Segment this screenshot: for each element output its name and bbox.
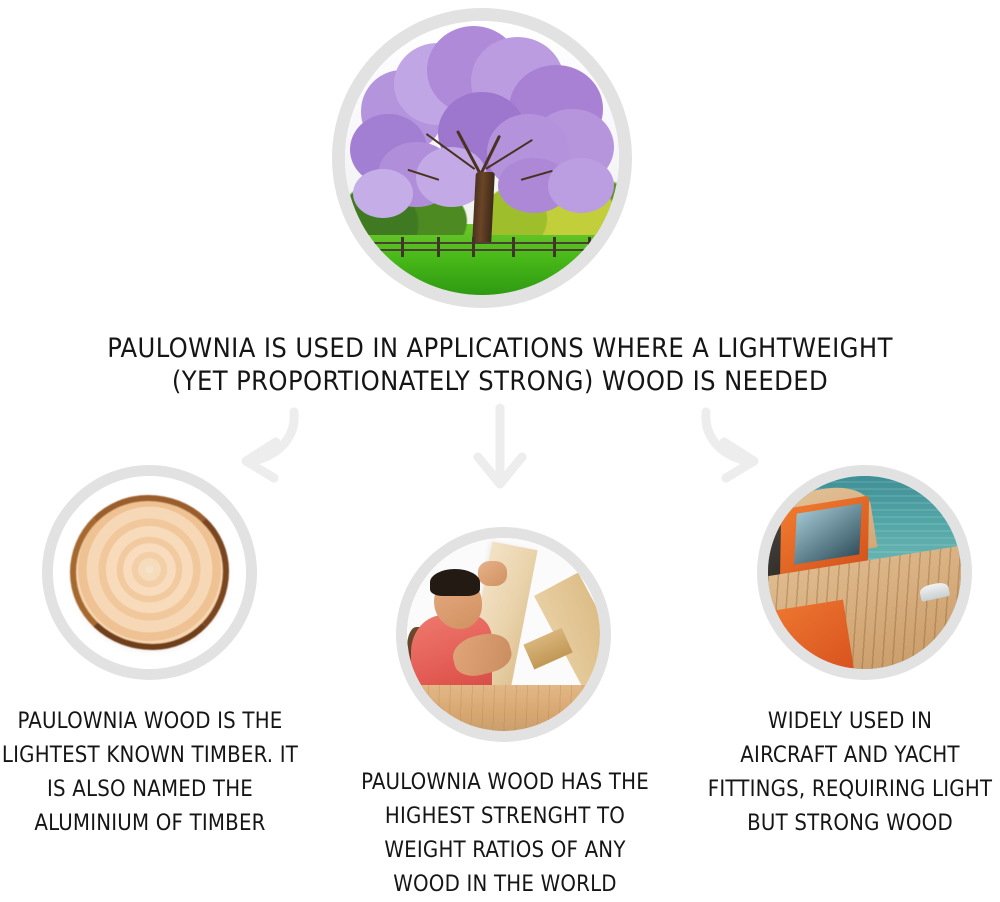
curved-arrow-left-icon: [246, 412, 294, 478]
caption-right-line-1: WIDELY USED IN: [700, 705, 1000, 739]
caption-left-line-4: ALUMINIUM OF TIMBER: [0, 807, 300, 841]
yacht-deck-illustration: [768, 476, 961, 669]
caption-left-line-3: IS ALSO NAMED THE: [0, 773, 300, 807]
paulownia-tree-illustration: [345, 21, 619, 295]
caption-center-line-1: PAULOWNIA WOOD HAS THE: [345, 766, 665, 800]
headline-line-2: (YET PROPORTIONATELY STRONG) WOOD IS NEE…: [0, 365, 1000, 398]
wood-cross-section-illustration: [53, 476, 246, 669]
caption-center-line-3: WEIGHT RATIOS OF ANY: [345, 834, 665, 868]
headline-line-1: PAULOWNIA IS USED IN APPLICATIONS WHERE …: [0, 332, 1000, 365]
branch-image-badge-right: [757, 465, 972, 680]
caption-left: PAULOWNIA WOOD IS THE LIGHTEST KNOWN TIM…: [0, 705, 300, 841]
tree-trunk: [472, 172, 495, 243]
man-bending-plank-illustration: [407, 538, 600, 731]
branch-image-badge-center: [396, 527, 611, 742]
caption-center-line-2: HIGHEST STRENGHT TO: [345, 800, 665, 834]
hand: [478, 561, 507, 586]
bark-edge: [70, 495, 229, 650]
branch-image-frame-left: [53, 476, 246, 669]
tree-rings: [74, 499, 225, 646]
wooden-fence: [356, 237, 608, 256]
hair: [430, 569, 480, 596]
branch-image-badge-left: [42, 465, 257, 680]
workbench: [407, 685, 600, 731]
caption-right-line-4: BUT STRONG WOOD: [700, 807, 1000, 841]
caption-center: PAULOWNIA WOOD HAS THE HIGHEST STRENGHT …: [345, 766, 665, 902]
curved-arrow-right-icon: [706, 412, 754, 478]
caption-left-line-2: LIGHTEST KNOWN TIMBER. IT: [0, 739, 300, 773]
caption-right: WIDELY USED IN AIRCRAFT AND YACHT FITTIN…: [700, 705, 1000, 841]
orange-hull: [768, 600, 854, 669]
branch-image-frame-right: [768, 476, 961, 669]
hero-image-frame: [345, 21, 619, 295]
windshield: [794, 503, 861, 564]
caption-right-line-3: FITTINGS, REQUIRING LIGHT: [700, 773, 1000, 807]
branch-image-frame-center: [407, 538, 600, 731]
hero-image-badge: [332, 8, 632, 308]
caption-left-line-1: PAULOWNIA WOOD IS THE: [0, 705, 300, 739]
caption-right-line-2: AIRCRAFT AND YACHT: [700, 739, 1000, 773]
caption-center-line-4: WOOD IN THE WORLD: [345, 868, 665, 902]
headline: PAULOWNIA IS USED IN APPLICATIONS WHERE …: [0, 332, 1000, 398]
arrow-down-icon: [478, 408, 522, 484]
